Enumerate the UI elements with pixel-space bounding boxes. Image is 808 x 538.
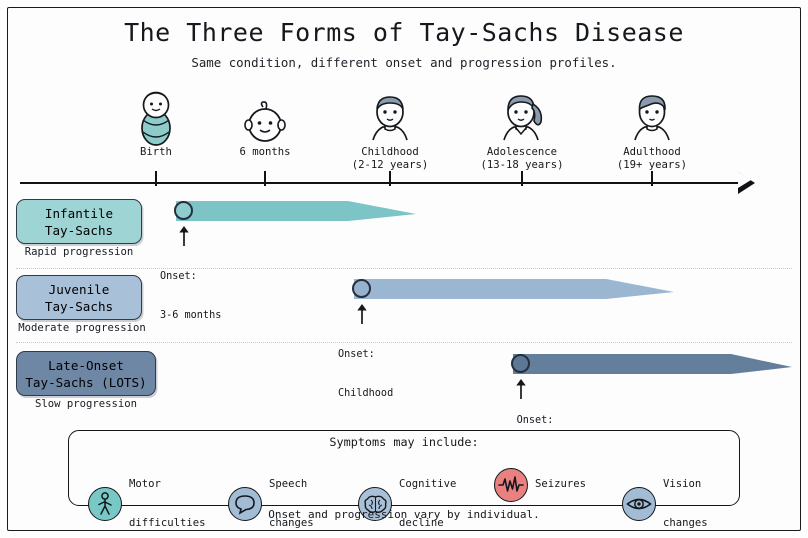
timeline-label: 6 months (215, 146, 315, 159)
symptom-label-line1: Cognitive (399, 478, 456, 491)
badge-line1: Late-Onset (48, 357, 124, 374)
symptom-speech-changes[interactable]: Speech changes (228, 452, 314, 538)
timeline-node-six-months: 6 months (215, 88, 315, 159)
baby-face-icon (215, 88, 315, 146)
timeline-label: Birth (106, 146, 206, 159)
progression-bar-juvenile (354, 276, 674, 302)
axis-tick (521, 171, 523, 186)
timeline-node-childhood: Childhood (2-12 years) (340, 88, 440, 172)
onset-arrow-icon (176, 224, 192, 250)
symptom-vision-changes[interactable]: Vision changes (622, 452, 708, 538)
seizure-wave-icon (494, 468, 528, 502)
symptom-label-line1: Motor (129, 478, 206, 491)
timeline-node-birth: Birth (106, 88, 206, 159)
infographic-canvas: The Three Forms of Tay-Sachs Disease Sam… (0, 0, 808, 538)
symptom-cognitive-decline[interactable]: Cognitive decline (358, 452, 456, 538)
onset-dot-juvenile (352, 279, 371, 298)
progression-note-late-onset: Slow progression (10, 398, 162, 410)
onset-dot-infantile (174, 201, 193, 220)
footer-note: Onset and progression vary by individual… (0, 508, 808, 521)
onset-line1: Onset: (160, 270, 290, 283)
symptom-label-line1: Seizures (535, 478, 586, 491)
onset-arrow-icon (513, 377, 529, 403)
onset-dot-late-onset (511, 354, 530, 373)
symptom-label-line1: Speech (269, 478, 314, 491)
axis-tick (389, 171, 391, 186)
row-divider (16, 342, 792, 343)
onset-arrow-icon (354, 302, 370, 328)
badge-line2: Tay-Sachs (45, 298, 113, 315)
progression-bar-infantile (176, 198, 416, 224)
axis-tick (651, 171, 653, 186)
row-divider (16, 268, 792, 269)
onset-line1: Onset: (338, 348, 478, 361)
timeline-label: Childhood (340, 146, 440, 159)
symptom-label-line1: Vision (663, 478, 708, 491)
timeline-arrow-icon (738, 172, 755, 194)
swaddled-baby-icon (106, 88, 206, 146)
badge-juvenile[interactable]: Juvenile Tay-Sachs (16, 275, 142, 320)
axis-tick (155, 171, 157, 186)
axis-tick (264, 171, 266, 186)
badge-line1: Juvenile (49, 281, 110, 298)
timeline-node-adulthood: Adulthood (19+ years) (602, 88, 702, 172)
timeline-label: Adulthood (602, 146, 702, 159)
teen-face-icon (472, 88, 572, 146)
symptoms-title: Symptoms may include: (68, 435, 740, 449)
onset-line1: Onset: (455, 414, 615, 427)
timeline-label: Adolescence (472, 146, 572, 159)
badge-line2: Tay-Sachs (45, 222, 113, 239)
timeline-axis (20, 182, 742, 184)
badge-late-onset[interactable]: Late-Onset Tay-Sachs (LOTS) (16, 351, 156, 396)
badge-line2: Tay-Sachs (LOTS) (25, 374, 146, 391)
progression-bar-late-onset (513, 351, 792, 377)
page-subtitle: Same condition, different onset and prog… (0, 55, 808, 70)
onset-label-juvenile: Onset: Childhood (298, 322, 478, 426)
badge-infantile[interactable]: Infantile Tay-Sachs (16, 199, 142, 244)
timeline-node-adolescence: Adolescence (13-18 years) (472, 88, 572, 172)
page-title: The Three Forms of Tay-Sachs Disease (0, 18, 808, 47)
badge-line1: Infantile (45, 205, 113, 222)
progression-note-juvenile: Moderate progression (0, 322, 167, 334)
child-face-icon (340, 88, 440, 146)
adult-face-icon (602, 88, 702, 146)
onset-line2: 3-6 months (160, 309, 290, 322)
symptom-motor-difficulties[interactable]: Motor difficulties (88, 452, 206, 538)
